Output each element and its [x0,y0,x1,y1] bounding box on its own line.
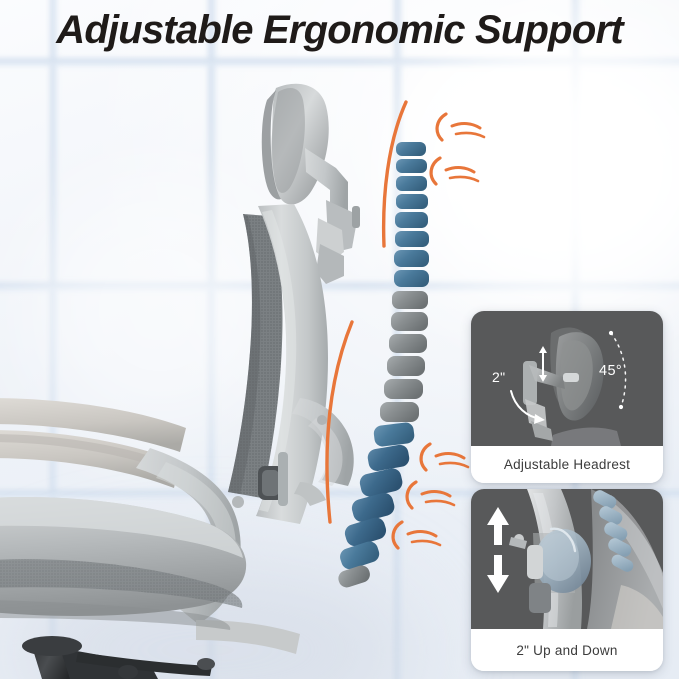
pressure-marker [421,444,468,470]
product-feature-image: Adjustable Ergonomic Support [0,0,679,679]
headrest-adjust-photo: 45° 2" [471,311,663,446]
page-title: Adjustable Ergonomic Support [0,8,679,53]
arrow-up-icon [487,507,509,545]
backrest-mesh [228,214,283,498]
panel-caption-adjustable-headrest: Adjustable Headrest [471,446,663,483]
panel-caption-lumbar-up-down: 2" Up and Down [471,629,663,671]
feature-panel-adjustable-headrest[interactable]: 45° 2" Adjustable Headrest [471,311,663,483]
pressure-marker [407,482,454,508]
angle-annotation: 45° [599,363,622,379]
pressure-marker [393,522,440,548]
feature-panel-lumbar-up-down[interactable]: 2" Up and Down [471,489,663,671]
support-curve-lower [327,322,352,522]
lumbar-adjust-photo [471,489,663,629]
pressure-marker [431,158,478,184]
pressure-marker [437,114,484,140]
lumbar-adjust-diagram [471,489,663,629]
chair-base [22,636,215,679]
height-annotation: 2" [492,369,505,385]
arrow-down-icon [487,555,509,593]
